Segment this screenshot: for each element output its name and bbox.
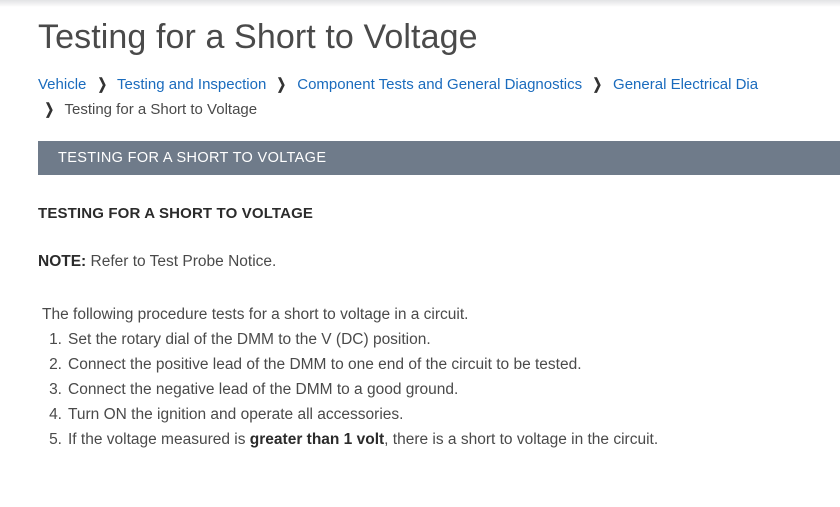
step-text: Connect the negative lead of the DMM to …	[62, 377, 458, 402]
step-number: 2.	[42, 352, 62, 377]
step-text: Turn ON the ignition and operate all acc…	[62, 402, 403, 427]
procedure-intro: The following procedure tests for a shor…	[42, 302, 840, 327]
page-title: Testing for a Short to Voltage	[38, 17, 840, 58]
breadcrumb: Vehicle ❯ Testing and Inspection ❯ Compo…	[38, 72, 840, 122]
list-item: 1. Set the rotary dial of the DMM to the…	[42, 327, 840, 352]
article-heading: TESTING FOR A SHORT TO VOLTAGE	[38, 205, 840, 222]
document-page: Testing for a Short to Voltage Vehicle ❯…	[0, 0, 840, 452]
step-text-before: If the voltage measured is	[68, 431, 250, 448]
list-item: 4. Turn ON the ignition and operate all …	[42, 402, 840, 427]
list-item: 5. If the voltage measured is greater th…	[42, 427, 840, 452]
step-number: 3.	[42, 377, 62, 402]
step-text: Set the rotary dial of the DMM to the V …	[62, 327, 431, 352]
step-number: 4.	[42, 402, 62, 427]
chevron-right-icon: ❯	[589, 72, 606, 97]
page-header: Testing for a Short to Voltage Vehicle ❯…	[0, 17, 840, 122]
breadcrumb-line-1: Vehicle ❯ Testing and Inspection ❯ Compo…	[38, 72, 840, 97]
breadcrumb-item-testing-and-inspection[interactable]: Testing and Inspection	[117, 76, 266, 93]
step-number: 1.	[42, 327, 62, 352]
breadcrumb-line-2: ❯ Testing for a Short to Voltage	[38, 97, 840, 122]
breadcrumb-item-general-electrical-diagnostics[interactable]: General Electrical Dia	[613, 76, 758, 93]
list-item: 2. Connect the positive lead of the DMM …	[42, 352, 840, 377]
list-item: 3. Connect the negative lead of the DMM …	[42, 377, 840, 402]
step-text-before: Connect the negative lead of the DMM to …	[68, 381, 458, 398]
procedure-steps: 1. Set the rotary dial of the DMM to the…	[42, 327, 840, 452]
step-text-after: , there is a short to voltage in the cir…	[384, 431, 658, 448]
step-number: 5.	[42, 427, 62, 452]
step-text-before: Turn ON the ignition and operate all acc…	[68, 406, 403, 423]
breadcrumb-item-component-tests-and-general-diagnostics[interactable]: Component Tests and General Diagnostics	[297, 76, 582, 93]
section-banner-label: TESTING FOR A SHORT TO VOLTAGE	[38, 150, 326, 166]
step-text-before: Set the rotary dial of the DMM to the V …	[68, 331, 431, 348]
breadcrumb-item-current: Testing for a Short to Voltage	[64, 101, 257, 118]
chevron-right-icon: ❯	[273, 72, 290, 97]
chevron-right-icon: ❯	[41, 97, 58, 122]
note-paragraph: NOTE: Refer to Test Probe Notice.	[38, 253, 840, 271]
article-body: TESTING FOR A SHORT TO VOLTAGE NOTE: Ref…	[0, 175, 840, 452]
breadcrumb-item-vehicle[interactable]: Vehicle	[38, 76, 86, 93]
note-text: Refer to Test Probe Notice.	[86, 253, 276, 270]
section-banner: TESTING FOR A SHORT TO VOLTAGE	[38, 141, 840, 175]
chevron-right-icon: ❯	[93, 72, 110, 97]
step-text: Connect the positive lead of the DMM to …	[62, 352, 582, 377]
note-label: NOTE:	[38, 253, 86, 270]
step-text-emphasis: greater than 1 volt	[250, 431, 384, 448]
step-text-before: Connect the positive lead of the DMM to …	[68, 356, 582, 373]
step-text: If the voltage measured is greater than …	[62, 427, 658, 452]
